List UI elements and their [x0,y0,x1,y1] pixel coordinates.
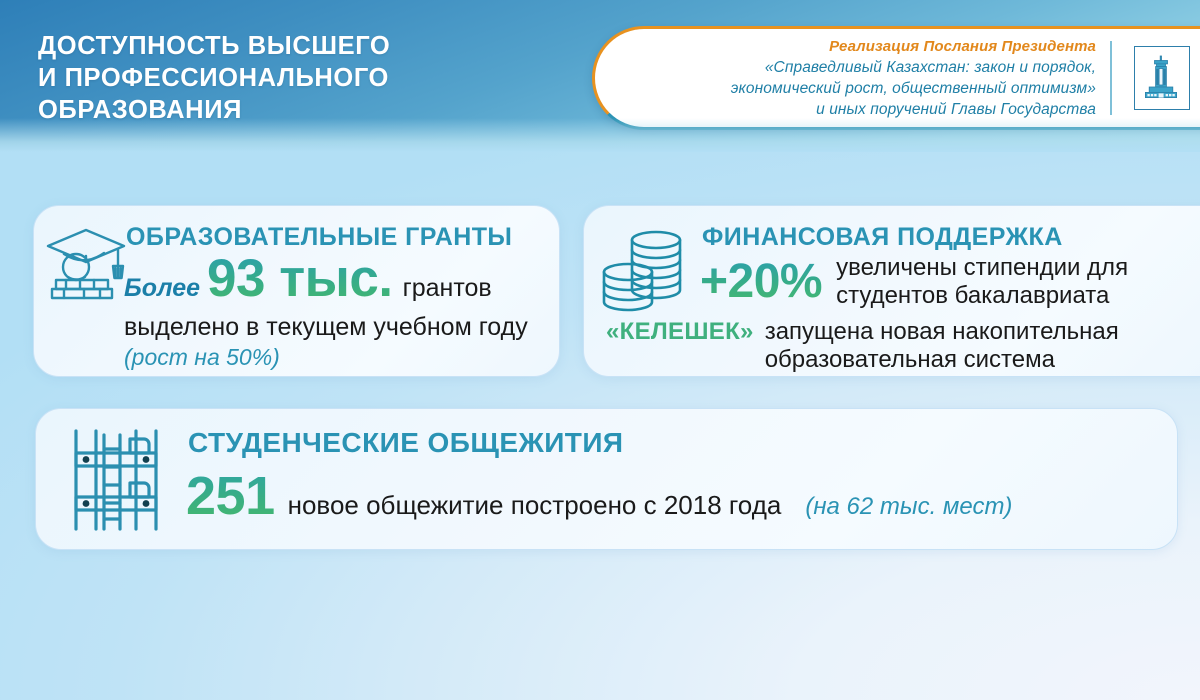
coin-stacks-icon [600,228,692,321]
card-finance-program-name: «КЕЛЕШЕК» [606,318,754,346]
card-finance-program-line-2: образовательная система [765,346,1119,374]
card-finance-program-line: «КЕЛЕШЕК» запущена новая накопительная о… [606,318,1119,374]
presidential-address-badge: Реализация Послания Президента «Справедл… [592,26,1200,130]
card-dorm-stat-line: 251 новое общежитие построено с 2018 год… [186,467,1012,525]
badge-line-1: Реализация Послания Президента [633,36,1096,57]
card-finance-program-description: запущена новая накопительная образовател… [765,318,1119,374]
badge-divider [1110,41,1112,115]
card-finance-program-line-1: запущена новая накопительная [765,318,1119,346]
card-financial-support: ФИНАНСОВАЯ ПОДДЕРЖКА +20% увеличены стип… [583,205,1200,377]
card-finance-desc-line-1: увеличены стипендии для [836,254,1128,282]
badge-line-3: экономический рост, общественный оптимиз… [633,78,1096,99]
card-grants-stat-line: Более 93 тыс. грантов [124,251,492,307]
government-building-icon [1134,46,1190,110]
badge-line-4: и иных поручений Главы Государства [633,99,1096,120]
badge-text-block: Реализация Послания Президента «Справедл… [633,36,1110,120]
page-title-line-3: ОБРАЗОВАНИЯ [38,94,390,126]
card-student-dormitories: СТУДЕНЧЕСКИЕ ОБЩЕЖИТИЯ 251 новое общежит… [35,408,1178,550]
page-title-line-2: И ПРОФЕССИОНАЛЬНОГО [38,62,390,94]
card-grants-note: (рост на 50%) [124,344,280,371]
card-finance-value: +20% [700,256,822,308]
card-finance-desc-line-2: студентов бакалавриата [836,282,1128,310]
card-dorm-note: (на 62 тыс. мест) [805,493,1012,521]
graduation-cap-books-icon [40,222,132,313]
card-dorm-description: новое общежитие построено с 2018 года [288,490,782,521]
card-finance-stat-line: +20% увеличены стипендии для студентов б… [700,254,1128,310]
infographic-page: ДОСТУПНОСТЬ ВЫСШЕГО И ПРОФЕССИОНАЛЬНОГО … [0,0,1200,700]
card-finance-description: увеличены стипендии для студентов бакала… [836,254,1128,310]
card-grants-value: 93 тыс. [207,251,393,307]
card-grants-prefix: Более [124,274,200,303]
card-grants-heading: ОБРАЗОВАТЕЛЬНЫЕ ГРАНТЫ [126,223,512,251]
card-dorm-value: 251 [186,467,275,525]
card-dorm-heading: СТУДЕНЧЕСКИЕ ОБЩЕЖИТИЯ [188,429,624,457]
card-grants-description: выделено в текущем учебном году [124,313,528,342]
card-grants-value-tail: грантов [403,274,492,303]
page-header: ДОСТУПНОСТЬ ВЫСШЕГО И ПРОФЕССИОНАЛЬНОГО … [0,0,1200,152]
bunk-bed-icon [60,423,166,540]
page-title-line-1: ДОСТУПНОСТЬ ВЫСШЕГО [38,30,390,62]
card-finance-heading: ФИНАНСОВАЯ ПОДДЕРЖКА [702,223,1063,251]
page-title: ДОСТУПНОСТЬ ВЫСШЕГО И ПРОФЕССИОНАЛЬНОГО … [38,30,390,126]
badge-line-2: «Справедливый Казахстан: закон и порядок… [633,57,1096,78]
card-educational-grants: ОБРАЗОВАТЕЛЬНЫЕ ГРАНТЫ Более 93 тыс. гра… [33,205,560,377]
